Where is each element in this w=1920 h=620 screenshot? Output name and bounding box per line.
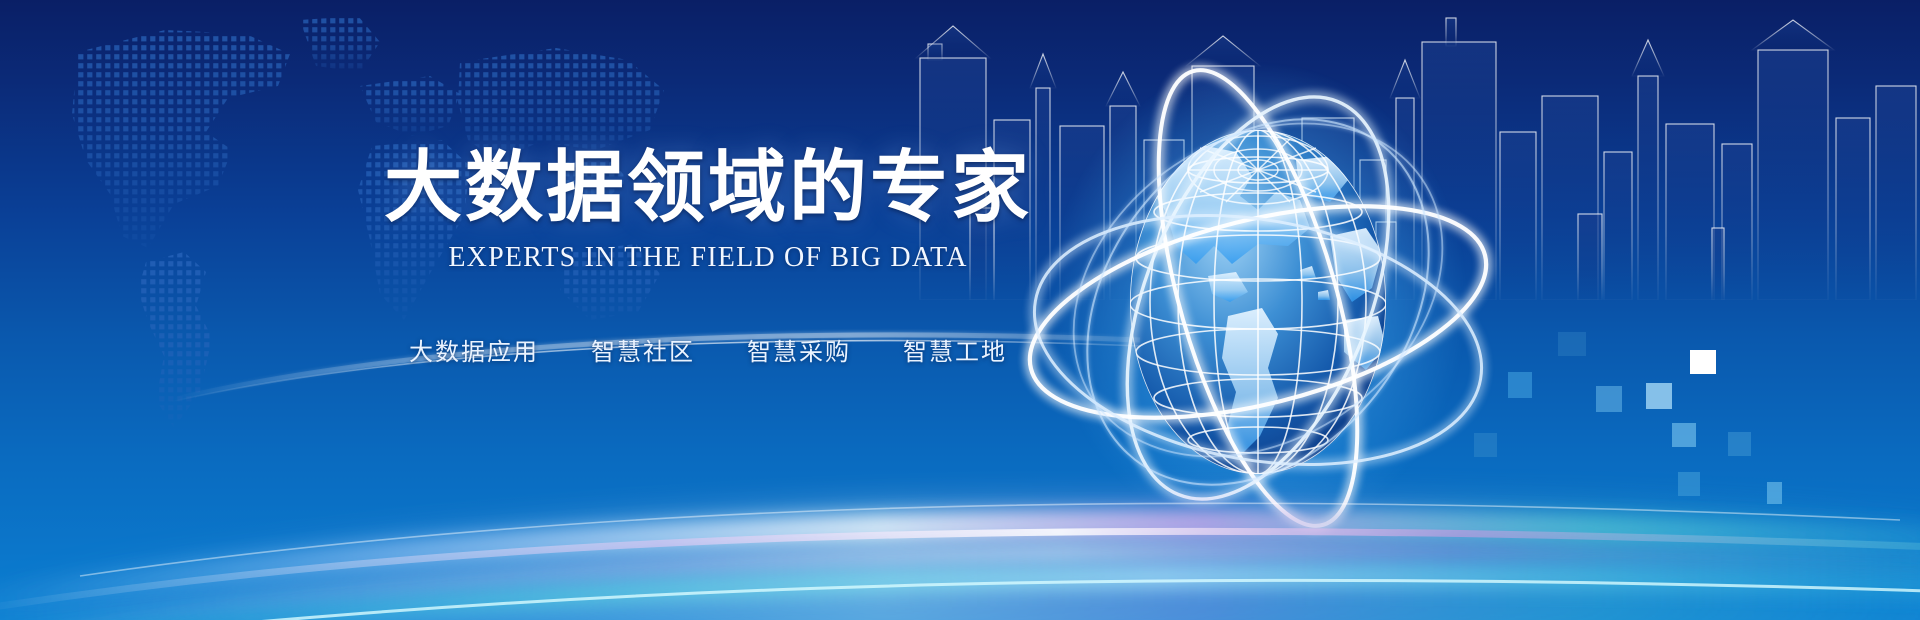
keyword-item-big-data-application[interactable]: 大数据应用	[409, 332, 539, 367]
keyword-item-smart-construction-site[interactable]: 智慧工地	[903, 332, 1007, 367]
globe-network-graphic	[1000, 40, 1520, 560]
square-8	[1474, 433, 1497, 457]
square-7	[1728, 432, 1751, 456]
square-1	[1558, 332, 1586, 356]
keyword-item-smart-procurement[interactable]: 智慧采购	[747, 332, 851, 367]
square-5-white	[1690, 350, 1716, 374]
keyword-item-smart-community[interactable]: 智慧社区	[591, 332, 695, 367]
banner-root: 大数据领域的专家 EXPERTS IN THE FIELD OF BIG DAT…	[0, 0, 1920, 620]
square-6	[1672, 423, 1696, 447]
square-4	[1646, 383, 1672, 409]
aurora-light-sweep	[0, 350, 1920, 620]
page-title: 大数据领域的专家	[338, 148, 1078, 228]
floating-squares	[1440, 320, 1920, 620]
square-10	[1767, 482, 1782, 504]
keyword-nav: 大数据应用 智慧社区 智慧采购 智慧工地	[338, 332, 1078, 367]
headline-block: 大数据领域的专家 EXPERTS IN THE FIELD OF BIG DAT…	[338, 148, 1078, 367]
square-3	[1596, 386, 1622, 412]
subtitle-english: EXPERTS IN THE FIELD OF BIG DATA	[338, 242, 1078, 274]
square-9	[1678, 472, 1700, 496]
square-2	[1508, 372, 1532, 398]
